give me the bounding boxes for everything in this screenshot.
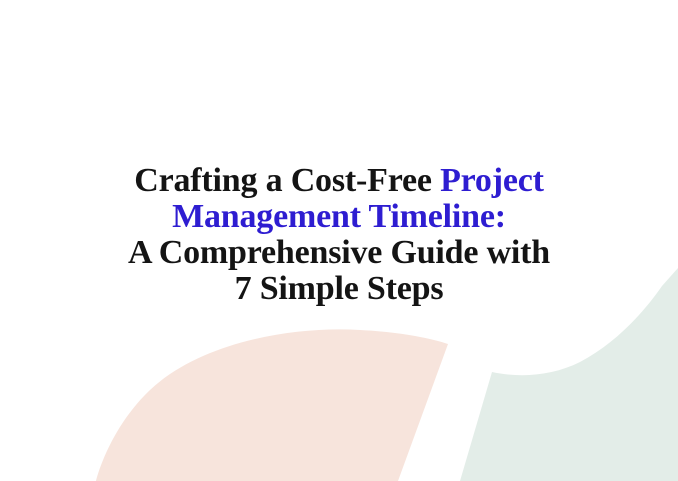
mint-blob-shape (460, 268, 678, 481)
pink-blob-shape (96, 329, 448, 481)
decorative-shapes-layer (0, 0, 678, 481)
poster-canvas: Crafting a Cost-Free Project Management … (0, 0, 678, 481)
